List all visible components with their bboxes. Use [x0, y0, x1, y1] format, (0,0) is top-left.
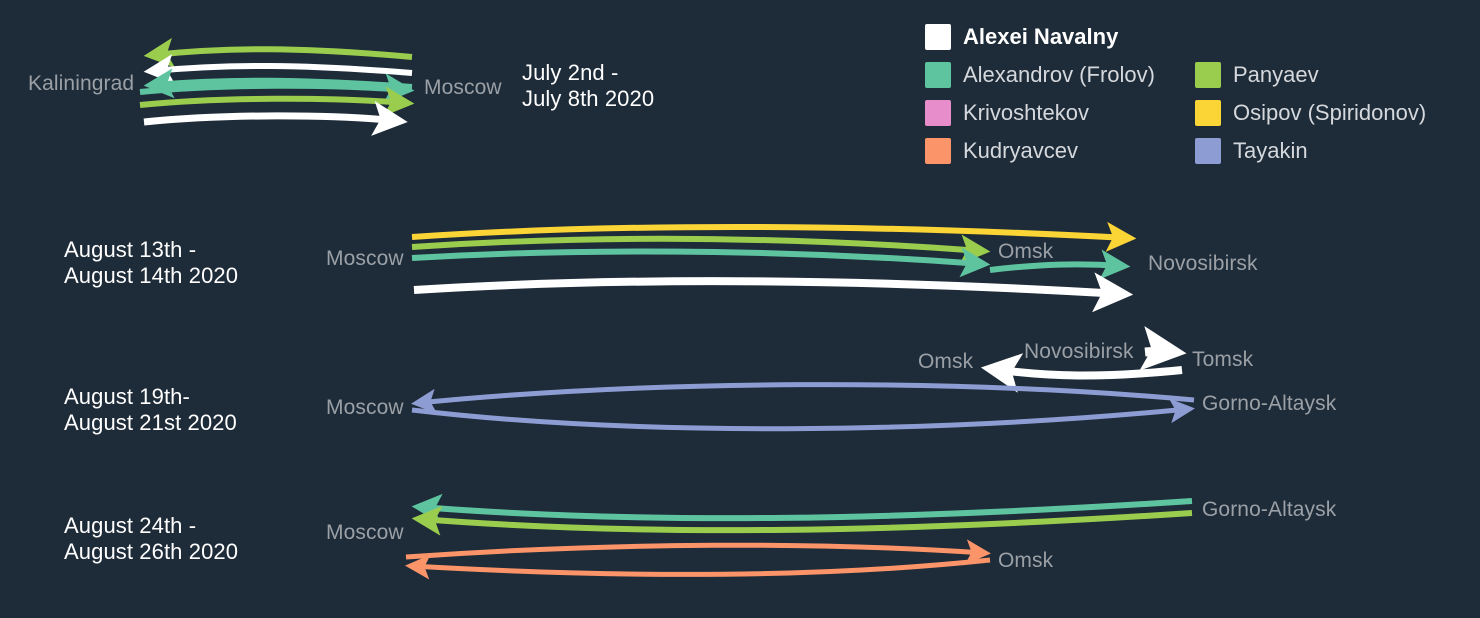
route-moscow-kaliningrad-panyaev — [152, 49, 412, 57]
city-label-novosibirsk-aug19: Novosibirsk — [1024, 340, 1134, 364]
legend-label-tayakin: Tayakin — [1233, 138, 1308, 164]
date-label-august-24: August 24th - August 26th 2020 — [64, 513, 238, 565]
route-gornoaltaysk-moscow-alexandrov — [420, 501, 1192, 518]
legend-label-navalny: Alexei Navalny — [963, 24, 1118, 50]
city-label-novosibirsk-aug13: Novosibirsk — [1148, 252, 1258, 276]
route-gornoaltaysk-moscow-tayakin — [418, 385, 1194, 403]
legend-item-navalny[interactable]: Alexei Navalny — [925, 24, 1118, 50]
legend-item-osipov[interactable]: Osipov (Spiridonov) — [1195, 100, 1426, 126]
legend-item-panyaev[interactable]: Panyaev — [1195, 62, 1319, 88]
route-kaliningrad-moscow-navalny — [144, 116, 398, 122]
legend-item-krivoshtekov[interactable]: Krivoshtekov — [925, 100, 1195, 126]
city-label-omsk-aug13: Omsk — [998, 240, 1053, 264]
route-moscow-omsk-alexandrov — [412, 251, 982, 264]
legend-label-panyaev: Panyaev — [1233, 62, 1319, 88]
route-moscow-kaliningrad-navalny — [152, 66, 412, 73]
legend-label-osipov: Osipov (Spiridonov) — [1233, 100, 1426, 126]
route-omsk-novosibirsk-alexandrov — [990, 264, 1122, 270]
trip-august-24-routes — [406, 501, 1192, 574]
city-label-moscow-aug19: Moscow — [326, 396, 404, 420]
route-tomsk-omsk-navalny — [992, 369, 1182, 376]
route-moscow-omsk-kudryavcev — [406, 545, 984, 557]
route-omsk-moscow-kudryavcev — [412, 560, 990, 574]
route-kaliningrad-moscow-panyaev — [140, 99, 406, 105]
city-label-gorno-altaysk-aug19: Gorno-Altaysk — [1202, 392, 1336, 416]
legend-item-alexandrov[interactable]: Alexandrov (Frolov) — [925, 62, 1195, 88]
city-label-moscow-aug13: Moscow — [326, 247, 404, 271]
legend-label-alexandrov: Alexandrov (Frolov) — [963, 62, 1155, 88]
legend-swatch-alexandrov — [925, 62, 951, 88]
city-label-omsk-aug24: Omsk — [998, 549, 1053, 573]
legend-label-krivoshtekov: Krivoshtekov — [963, 100, 1089, 126]
legend: Alexei Navalny Alexandrov (Frolov) Panya… — [925, 24, 1470, 164]
route-novosibirsk-tomsk-navalny — [1145, 351, 1174, 352]
legend-label-kudryavcev: Kudryavcev — [963, 138, 1078, 164]
date-label-august-13: August 13th - August 14th 2020 — [64, 237, 238, 289]
city-label-tomsk-aug19: Tomsk — [1192, 348, 1253, 372]
route-kaliningrad-moscow-alexandrov — [140, 86, 406, 92]
legend-item-kudryavcev[interactable]: Kudryavcev — [925, 138, 1195, 164]
route-moscow-novosibirsk-navalny — [414, 281, 1122, 294]
city-label-moscow-july: Moscow — [424, 76, 502, 100]
legend-swatch-tayakin — [1195, 138, 1221, 164]
city-label-moscow-aug24: Moscow — [326, 521, 404, 545]
date-label-august-19: August 19th- August 21st 2020 — [64, 384, 237, 436]
route-moscow-gornoaltaysk-tayakin — [412, 409, 1188, 429]
legend-swatch-osipov — [1195, 100, 1221, 126]
trip-july-routes — [140, 49, 412, 122]
legend-swatch-navalny — [925, 24, 951, 50]
route-moscow-novosibirsk-osipov — [412, 227, 1128, 238]
legend-swatch-krivoshtekov — [925, 100, 951, 126]
legend-item-tayakin[interactable]: Tayakin — [1195, 138, 1308, 164]
legend-swatch-panyaev — [1195, 62, 1221, 88]
city-label-gorno-altaysk-aug24: Gorno-Altaysk — [1202, 498, 1336, 522]
city-label-kaliningrad: Kaliningrad — [28, 72, 134, 96]
date-label-july: July 2nd - July 8th 2020 — [522, 60, 654, 112]
city-label-omsk-aug19: Omsk — [918, 350, 973, 374]
legend-swatch-kudryavcev — [925, 138, 951, 164]
travel-route-diagram: Kaliningrad Moscow Moscow Omsk Novosibir… — [0, 0, 1480, 618]
